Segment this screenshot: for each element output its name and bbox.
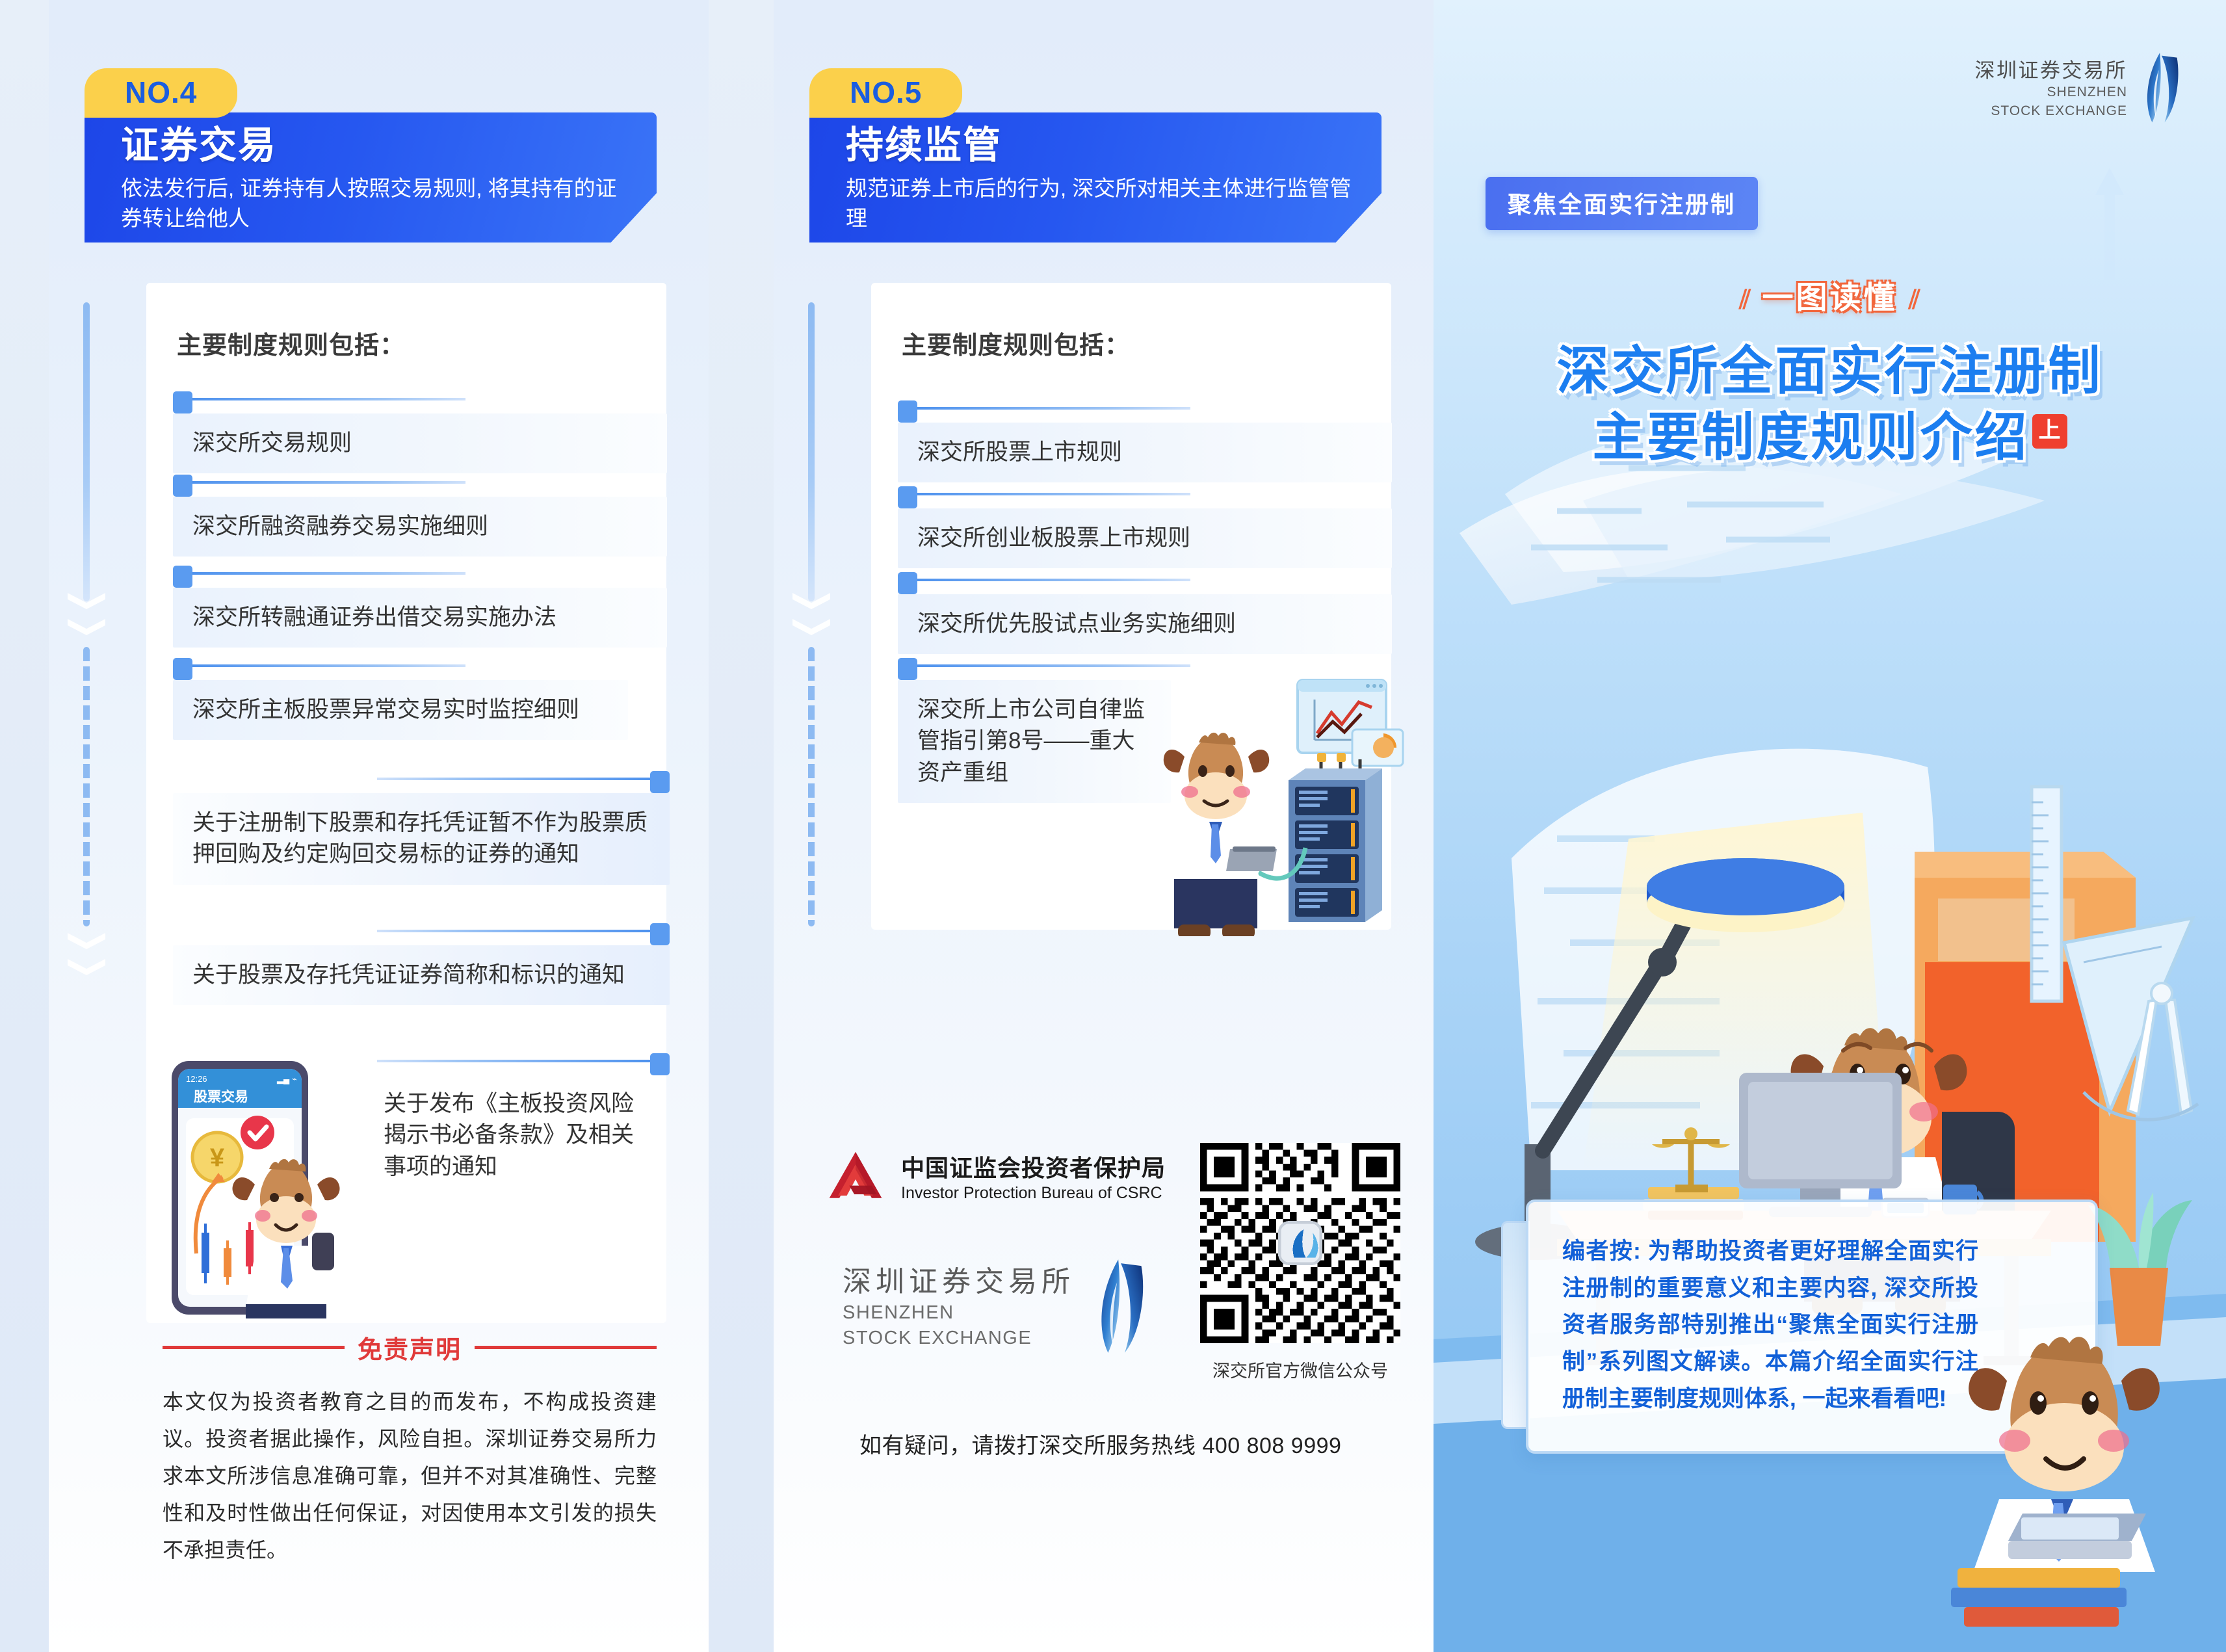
list-item: 深交所优先股试点业务实施细则 — [898, 594, 1392, 654]
cover-title: 深交所全面实行注册制 主要制度规则介绍上 — [1434, 338, 2226, 471]
svg-text:12:26: 12:26 — [186, 1074, 207, 1084]
section-1-description: 依法发行后, 证券持有人按照交易规则, 将其持有的证券转让给他人 — [121, 174, 635, 233]
list-item: 关于股票及存托凭证证券简称和标识的通知 — [173, 945, 670, 1005]
list-item: 深交所转融通证券出借交易实施办法 — [173, 588, 667, 648]
cover-szse-name-en-2: STOCK EXCHANGE — [1975, 103, 2128, 120]
disclaimer-rule-right — [475, 1346, 657, 1349]
section-2-rules-title: 主要制度规则包括： — [902, 325, 1130, 361]
column-1-connector-line-dotted — [83, 647, 90, 926]
rule-divider — [192, 481, 465, 484]
list-item: 关于发布《主板投资风险揭示书必备条款》及相关事项的通知 — [364, 1074, 670, 1197]
cover-subtitle-text: 一图读懂 — [1762, 281, 1897, 315]
list-item: 深交所交易规则 — [173, 413, 667, 473]
wechat-qr-caption: 深交所官方微信公众号 — [1200, 1357, 1400, 1382]
szse-logo-icon — [2135, 51, 2192, 127]
rule-divider — [917, 579, 1190, 581]
section-1-badge: NO.4 — [85, 68, 237, 118]
column-2-connector-line — [808, 302, 815, 601]
rule-divider — [192, 664, 465, 667]
server-monitoring-illustration — [1144, 657, 1437, 936]
section-2-badge-label: NO.5 — [850, 77, 922, 107]
cover-panel: 深圳证券交易所 SHENZHEN STOCK EXCHANGE 聚焦全面实行 — [1434, 0, 2226, 1652]
rule-divider — [917, 407, 1190, 410]
cover-title-line-1: 深交所全面实行注册制 — [1434, 338, 2226, 404]
section-2-badge: NO.5 — [809, 68, 962, 118]
rule-cap-icon — [898, 572, 917, 594]
csrc-logo-icon — [824, 1148, 887, 1211]
rule-cap-icon — [898, 400, 917, 423]
rule-cap-icon — [173, 566, 192, 588]
cover-topic-tag: 聚焦全面实行注册制 — [1486, 177, 1758, 230]
phone-trading-illustration: 12:26 ▂▄ ⌁ 股票交易 ¥ — [163, 1058, 377, 1318]
rule-cap-icon — [173, 391, 192, 413]
qr-code-image — [1200, 1143, 1400, 1343]
rule-cap-icon — [898, 658, 917, 680]
reading-bull-illustration — [1934, 1326, 2194, 1632]
list-item: 深交所主板股票异常交易实时监控细则 — [173, 680, 628, 740]
svg-text:股票交易: 股票交易 — [194, 1089, 248, 1105]
cover-title-superscript: 上 — [2032, 414, 2067, 449]
rule-divider — [192, 572, 465, 575]
section-2-title: 持续监管 — [846, 127, 1002, 164]
section-1-headerbox: 证券交易 依法发行后, 证券持有人按照交易规则, 将其持有的证券转让给他人 — [85, 112, 657, 243]
cover-szse-name-cn: 深圳证券交易所 — [1975, 59, 2128, 83]
szse-name-en-line1: SHENZHEN — [843, 1302, 1075, 1324]
szse-name-en-line2: STOCK EXCHANGE — [843, 1327, 1075, 1350]
rule-divider — [192, 398, 465, 400]
rule-cap-icon — [650, 1053, 670, 1075]
rule-divider — [917, 493, 1190, 495]
rule-cap-icon — [650, 771, 670, 793]
cover-subtitle: ⫽ 一图读懂 ⫽ — [1434, 272, 2226, 317]
disclaimer-block: 免责声明 本文仅为投资者教育之目的而发布，不构成投资建议。投资者据此操作，风险自… — [163, 1330, 657, 1569]
szse-logo-icon — [1085, 1256, 1162, 1360]
wechat-qr-block: 深交所官方微信公众号 — [1200, 1143, 1400, 1382]
section-1-rules-title: 主要制度规则包括： — [177, 325, 405, 361]
service-hotline: 如有疑问，请拨打深交所服务热线 400 808 9999 — [859, 1428, 1341, 1460]
column-1-connector-line — [83, 302, 90, 601]
cover-title-line-2: 主要制度规则介绍 — [1593, 408, 2030, 466]
csrc-logo-row: 中国证监会投资者保护局 Investor Protection Bureau o… — [824, 1148, 1166, 1211]
cover-szse-logo: 深圳证券交易所 SHENZHEN STOCK EXCHANGE — [1975, 51, 2193, 127]
list-item: 深交所股票上市规则 — [898, 423, 1392, 482]
tick-left-icon: ⫽ — [1739, 285, 1751, 314]
rule-divider — [377, 778, 650, 780]
svg-text:▂▄ ⌁: ▂▄ ⌁ — [276, 1074, 297, 1084]
list-item: 深交所上市公司自律监管指引第8号——重大资产重组 — [898, 680, 1171, 803]
rule-cap-icon — [898, 486, 917, 508]
rule-cap-icon — [650, 923, 670, 945]
section-1-badge-label: NO.4 — [125, 77, 197, 107]
list-item: 关于注册制下股票和存托凭证暂不作为股票质押回购及约定购回交易标的证券的通知 — [173, 793, 670, 885]
cover-szse-name-en-1: SHENZHEN — [1975, 84, 2128, 101]
rule-divider — [377, 930, 650, 932]
svg-text:¥: ¥ — [210, 1144, 225, 1172]
disclaimer-rule-left — [163, 1346, 345, 1349]
list-item: 深交所融资融券交易实施细则 — [173, 497, 667, 557]
section-2-headerbox: 持续监管 规范证券上市后的行为, 深交所对相关主体进行监管管理 — [809, 112, 1381, 243]
szse-name-cn: 深圳证券交易所 — [843, 1266, 1075, 1299]
disclaimer-header: 免责声明 — [163, 1330, 657, 1365]
section-2-description: 规范证券上市后的行为, 深交所对相关主体进行监管管理 — [846, 174, 1359, 233]
list-item: 深交所创业板股票上市规则 — [898, 508, 1392, 568]
szse-logo-row: 深圳证券交易所 SHENZHEN STOCK EXCHANGE — [843, 1256, 1162, 1360]
csrc-name-cn: 中国证监会投资者保护局 — [901, 1155, 1166, 1181]
csrc-name-en: Investor Protection Bureau of CSRC — [901, 1183, 1166, 1203]
infographic-page: NO.4 证券交易 依法发行后, 证券持有人按照交易规则, 将其持有的证券转让给… — [0, 0, 2226, 1652]
rule-divider — [377, 1060, 650, 1062]
section-1-title: 证券交易 — [121, 127, 277, 164]
tick-right-icon: ⫽ — [1909, 285, 1920, 314]
rule-cap-icon — [173, 658, 192, 680]
column-2-connector-line-dotted — [808, 647, 815, 926]
cover-title-line-2-wrap: 主要制度规则介绍上 — [1434, 404, 2226, 471]
editor-note-text: 编者按: 为帮助投资者更好理解全面实行注册制的重要意义和主要内容, 深交所投资者… — [1562, 1233, 1978, 1417]
disclaimer-body: 本文仅为投资者教育之目的而发布，不构成投资建议。投资者据此操作，风险自担。深圳证… — [163, 1383, 657, 1569]
rule-cap-icon — [173, 475, 192, 497]
disclaimer-title: 免责声明 — [358, 1330, 462, 1365]
